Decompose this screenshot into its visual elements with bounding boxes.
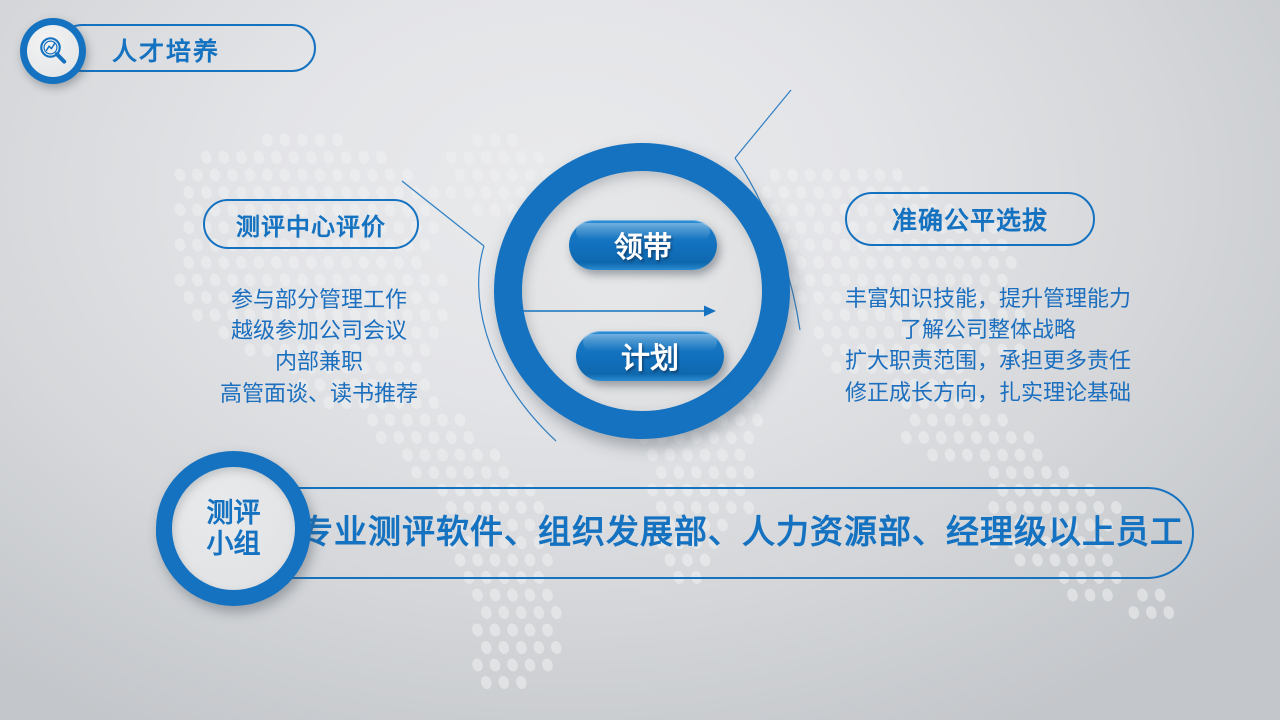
assessment-group-circle-inner: 测评 小组 [172,467,295,590]
right-text-line-3: 扩大职责范围，承担更多责任 [818,345,1158,376]
left-text-block: 参与部分管理工作 越级参加公司会议 内部兼职 高管面谈、读书推荐 [169,284,469,409]
badge-top[interactable]: 领带 [569,220,717,270]
right-label-text: 准确公平选拔 [892,201,1048,237]
left-label-pill[interactable]: 测评中心评价 [203,199,419,249]
right-text-line-4: 修正成长方向，扎实理论基础 [818,377,1158,408]
left-text-line-2: 越级参加公司会议 [169,315,469,346]
header-badge-inner [27,25,79,77]
right-label-pill[interactable]: 准确公平选拔 [845,192,1095,246]
center-ring-group: 领带 计划 [494,143,790,439]
badge-bottom[interactable]: 计划 [576,331,724,381]
right-text-line-2: 了解公司整体战略 [818,314,1158,345]
left-text-line-3: 内部兼职 [169,346,469,377]
header-group: 人才培养 [20,22,300,74]
assessment-group-circle[interactable]: 测评 小组 [156,451,311,606]
right-text-block: 丰富知识技能，提升管理能力 了解公司整体战略 扩大职责范围，承担更多责任 修正成… [818,283,1158,408]
slide-canvas: 人才培养 领带 计划 测评中心评价 参与部分管理工作 越级参加公司会议 内部兼职… [0,0,1280,720]
right-text-line-1: 丰富知识技能，提升管理能力 [818,283,1158,314]
badge-bottom-label: 计划 [621,335,679,377]
badge-top-label: 领带 [614,224,672,266]
group-circle-line-1: 测评 [207,498,261,528]
page-title: 人才培养 [112,32,220,68]
left-text-line-4: 高管面谈、读书推荐 [169,378,469,409]
magnifier-chart-icon [36,34,70,68]
group-circle-line-2: 小组 [207,529,261,559]
left-label-text: 测评中心评价 [236,207,386,242]
bottom-bar-text: 专业测评软件、组织发展部、人力资源部、经理级以上员工 [300,505,1180,553]
left-text-line-1: 参与部分管理工作 [169,284,469,315]
header-badge [20,18,86,84]
